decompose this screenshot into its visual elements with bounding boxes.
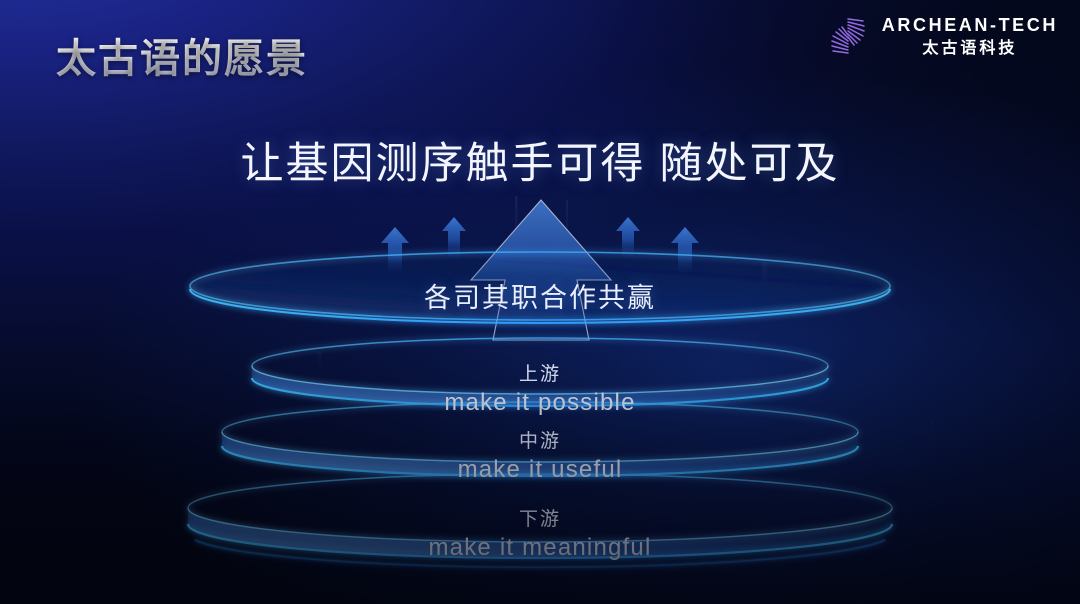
bottom-vignette [0,0,1080,604]
slide-root: 太古语的愿景 [0,0,1080,604]
